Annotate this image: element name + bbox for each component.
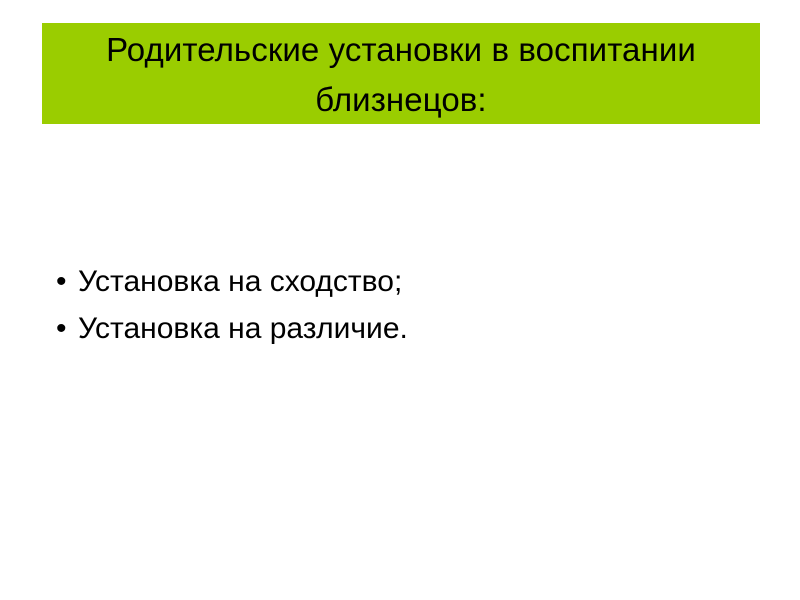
bullet-list: • Установка на сходство; • Установка на … xyxy=(50,258,750,352)
list-item-label: Установка на различие. xyxy=(78,312,408,345)
bullet-point-icon: • xyxy=(56,305,67,352)
page-title: Родительские установки в воспитании близ… xyxy=(42,23,760,125)
body-content: • Установка на сходство; • Установка на … xyxy=(50,258,750,352)
bullet-point-icon: • xyxy=(56,258,67,305)
title-banner: Родительские установки в воспитании близ… xyxy=(42,23,760,124)
slide-canvas: Родительские установки в воспитании близ… xyxy=(0,0,800,600)
list-item: • Установка на различие. xyxy=(50,305,750,352)
list-item-label: Установка на сходство; xyxy=(78,265,402,298)
list-item: • Установка на сходство; xyxy=(50,258,750,305)
